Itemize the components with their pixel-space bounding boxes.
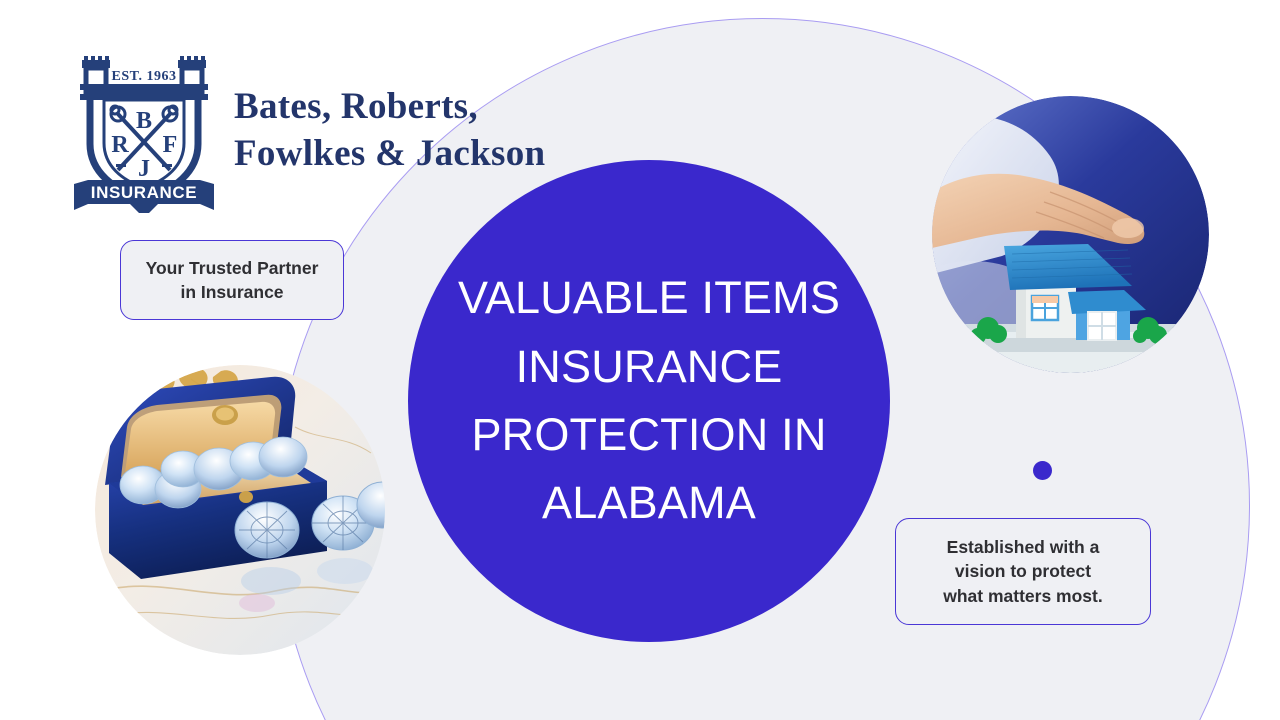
hero-circle: Valuable Items Insurance Protection in A…: [408, 160, 890, 642]
svg-text:EST. 1963: EST. 1963: [112, 69, 177, 84]
svg-text:J: J: [138, 156, 150, 182]
house-protection-photo: [932, 96, 1209, 373]
badge-established-vision: Established with a vision to protect wha…: [895, 518, 1151, 625]
brand-lockup[interactable]: EST. 1963 B R F J INSURANCE Bates, Rober…: [70, 48, 545, 213]
connector-dot: [1033, 461, 1052, 480]
svg-text:INSURANCE: INSURANCE: [91, 183, 197, 202]
company-crest-logo: EST. 1963 B R F J INSURANCE: [70, 48, 218, 213]
svg-text:F: F: [163, 132, 178, 158]
svg-text:B: B: [136, 108, 152, 134]
brand-name: Bates, Roberts, Fowlkes & Jackson: [234, 84, 545, 178]
promo-banner: Valuable Items Insurance Protection in A…: [0, 0, 1280, 720]
page-title: Valuable Items Insurance Protection in A…: [434, 264, 864, 538]
jewelry-photo: [95, 365, 385, 655]
svg-text:R: R: [111, 132, 129, 158]
badge-trusted-partner: Your Trusted Partner in Insurance: [120, 240, 344, 320]
